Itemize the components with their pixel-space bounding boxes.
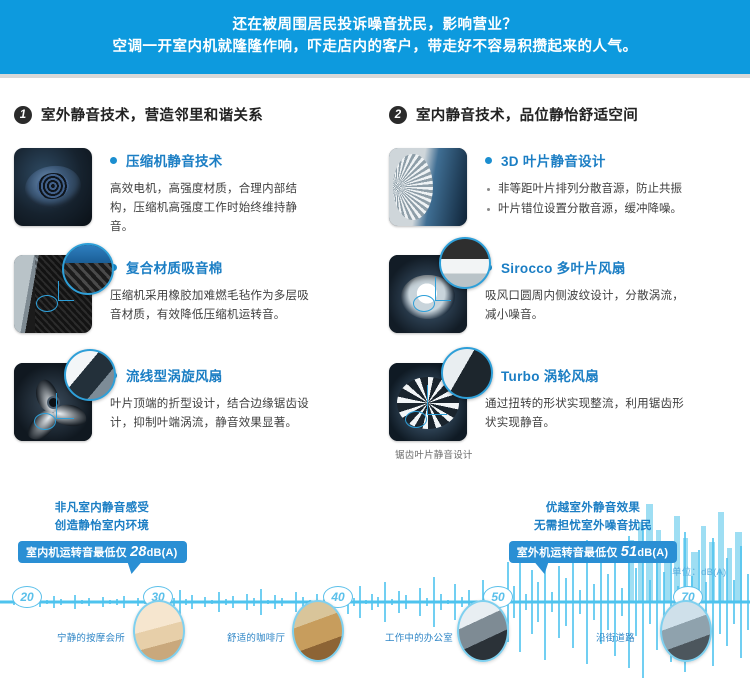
magnifier-target-ring-icon — [34, 413, 56, 430]
feature-bullet: 非等距叶片排列分散音源，防止共振 — [485, 180, 682, 200]
feature-title: 复合材质吸音棉 — [126, 257, 223, 277]
feature-description: 压缩机采用橡胶加难燃毛毡作为多层吸音材质，有效降低压缩机运转音。 — [110, 287, 320, 325]
feature-description: 吸风口圆周内侧波纹设计，分散涡流，减小噪音。 — [485, 287, 695, 325]
scene-image — [457, 600, 509, 662]
callout-line-1: 非凡室内静音感受 — [18, 500, 186, 518]
magnifier-target-ring-icon — [405, 411, 427, 428]
magnifier-target-ring-icon — [413, 295, 435, 312]
header-line-1: 还在被周围居民投诉噪音扰民，影响营业？ — [233, 15, 518, 37]
scene-label: 宁静的按摩会所 — [57, 630, 125, 644]
page-root: 还在被周围居民投诉噪音扰民，影响营业？ 空调一开室内机就隆隆作响，吓走店内的客户… — [0, 0, 750, 682]
section-title: 室内静音技术，品位静怡舒适空间 — [416, 104, 638, 125]
scene-label: 舒适的咖啡厅 — [227, 630, 285, 644]
indoor-db-badge: 室内机运转音最低仅 28dB(A) — [18, 541, 187, 563]
bullet-dot-icon — [110, 157, 117, 164]
badge-unit: dB(A) — [637, 547, 668, 559]
outdoor-callout: 优越室外静音效果 无需担忧室外噪音扰民 室外机运转音最低仅 51dB(A) — [493, 500, 693, 563]
feature-title: Sirocco 多叶片风扇 — [501, 257, 626, 277]
feature-title: 压缩机静音技术 — [126, 150, 223, 170]
section-number-badge: 2 — [389, 106, 407, 124]
bullet-dot-icon — [485, 157, 492, 164]
badge-prefix: 室外机运转音最低仅 — [517, 547, 618, 559]
noise-level-chart: 非凡室内静音感受 创造静怡室内环境 室内机运转音最低仅 28dB(A) 优越室外… — [0, 482, 750, 682]
badge-prefix: 室内机运转音最低仅 — [26, 547, 127, 559]
scene-label: 工作中的办公室 — [385, 630, 453, 644]
section-heading-indoor: 2 室内静音技术，品位静怡舒适空间 — [389, 104, 638, 125]
feature-turbo-fan: 锯齿叶片静音设计 Turbo 涡轮风扇 通过扭转的形状实现整流，利用锯齿形状实现… — [389, 363, 695, 441]
feature-description: 高效电机，高强度材质，合理内部结构，压缩机高强度工作时始终维持静音。 — [110, 180, 320, 237]
badge-value: 51 — [621, 544, 638, 560]
feature-3d-blade: 3D 叶片静音设计 非等距叶片排列分散音源，防止共振 叶片错位设置分散音源，缓冲… — [389, 148, 682, 226]
scene-image — [133, 600, 185, 662]
scene-office — [457, 600, 509, 662]
thumbnail-caption: 锯齿叶片静音设计 — [395, 447, 473, 461]
feature-title: 流线型涡旋风扇 — [126, 365, 223, 385]
section-heading-outdoor: 1 室外静音技术，营造邻里和谐关系 — [14, 104, 263, 125]
feature-sirocco-fan: Sirocco 多叶片风扇 吸风口圆周内侧波纹设计，分散涡流，减小噪音。 — [389, 255, 695, 333]
feature-bullet: 叶片错位设置分散音源，缓冲降噪。 — [485, 200, 682, 220]
callout-line-2: 无需担忧室外噪音扰民 — [493, 518, 693, 536]
section-number-badge: 1 — [14, 106, 32, 124]
magnifier-bubble-turbo — [441, 347, 493, 399]
section-title: 室外静音技术，营造邻里和谐关系 — [41, 104, 263, 125]
callout-line-2: 创造静怡室内环境 — [18, 518, 186, 536]
magnifier-bubble-cotton — [62, 243, 114, 295]
feature-vortex-fan: 流线型涡旋风扇 叶片顶端的折型设计，结合边缘锯齿设计，抑制叶端涡流，静音效果显著… — [14, 363, 320, 441]
feature-description: 叶片顶端的折型设计，结合边缘锯齿设计，抑制叶端涡流，静音效果显著。 — [110, 395, 320, 433]
scene-cafe — [292, 600, 344, 662]
badge-unit: dB(A) — [147, 547, 178, 559]
scene-massage-club — [133, 600, 185, 662]
badge-pointer-icon — [124, 562, 141, 574]
header-divider — [0, 74, 750, 78]
scene-street — [660, 600, 712, 662]
magnifier-bubble-fan-blade — [64, 349, 116, 401]
outdoor-db-badge: 室外机运转音最低仅 51dB(A) — [509, 541, 678, 563]
axis-tick-20: 20 — [12, 586, 42, 608]
indoor-callout: 非凡室内静音感受 创造静怡室内环境 室内机运转音最低仅 28dB(A) — [18, 500, 186, 563]
callout-line-1: 优越室外静音效果 — [493, 500, 693, 518]
scene-image — [292, 600, 344, 662]
3d-blade-thumbnail — [389, 148, 467, 226]
feature-sound-cotton: 复合材质吸音棉 压缩机采用橡胶加难燃毛毡作为多层吸音材质，有效降低压缩机运转音。 — [14, 255, 320, 333]
compressor-thumbnail — [14, 148, 92, 226]
scene-image — [660, 600, 712, 662]
magnifier-leader-line-icon — [427, 385, 447, 415]
blade-icon — [389, 148, 467, 226]
header-banner: 还在被周围居民投诉噪音扰民，影响营业？ 空调一开室内机就隆隆作响，吓走店内的客户… — [0, 0, 750, 74]
compressor-icon — [22, 162, 83, 211]
magnifier-target-ring-icon — [36, 295, 58, 312]
feature-title: 3D 叶片静音设计 — [501, 150, 606, 170]
feature-title: Turbo 涡轮风扇 — [501, 365, 599, 385]
feature-compressor: 压缩机静音技术 高效电机，高强度材质，合理内部结构，压缩机高强度工作时始终维持静… — [14, 148, 320, 237]
magnifier-bubble-sirocco — [439, 237, 491, 289]
feature-description: 通过扭转的形状实现整流，利用锯齿形状实现静音。 — [485, 395, 695, 433]
scene-label: 沿街道路 — [596, 630, 635, 644]
feature-bullet-list: 非等距叶片排列分散音源，防止共振 叶片错位设置分散音源，缓冲降噪。 — [485, 180, 682, 219]
chart-unit-label: 单位：dB(A) — [672, 564, 726, 578]
badge-value: 28 — [130, 544, 147, 560]
header-line-2: 空调一开室内机就隆隆作响，吓走店内的客户，带走好不容易积攒起来的人气。 — [113, 37, 638, 59]
badge-pointer-icon — [534, 562, 551, 574]
magnifier-leader-line-icon — [56, 393, 74, 419]
